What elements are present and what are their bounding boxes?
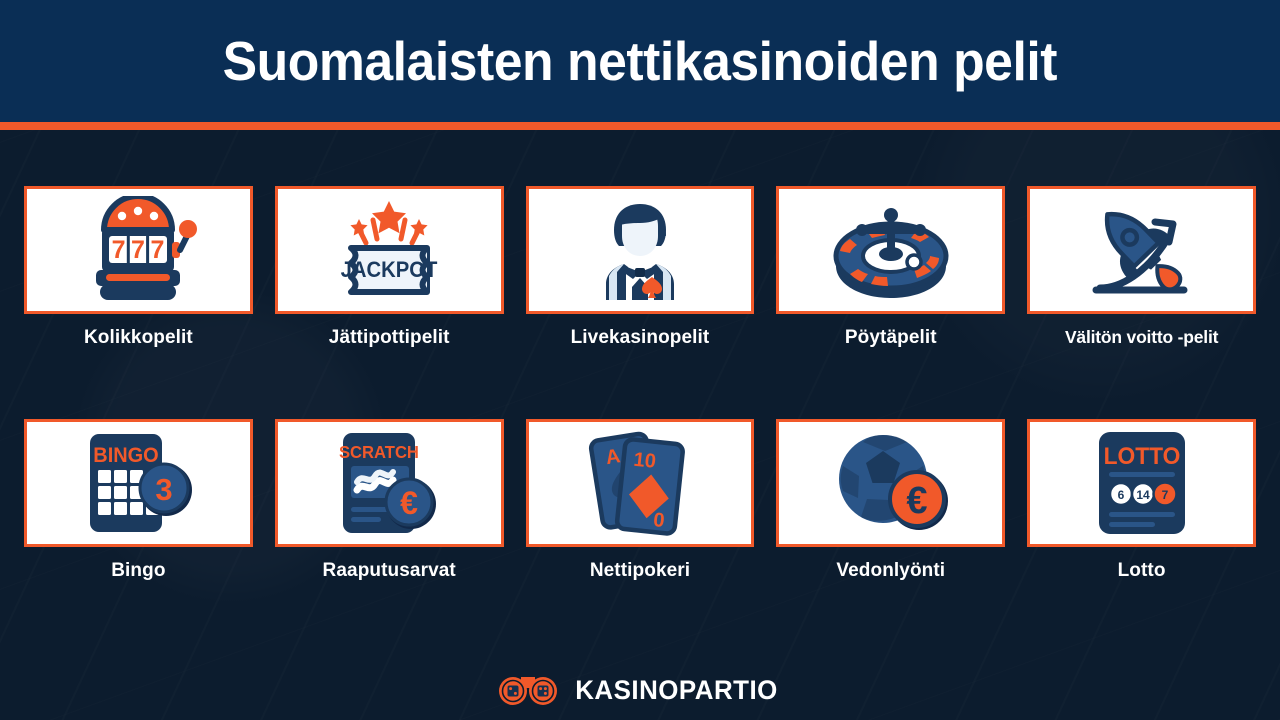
- grid-item-label: Jättipottipelit: [329, 327, 450, 349]
- footer-brand: KASINOPARTIO: [0, 660, 1280, 720]
- football-euro-icon: €: [831, 429, 951, 537]
- icon-card[interactable]: [1027, 186, 1256, 314]
- grid-item-label: Kolikkopelit: [84, 327, 193, 349]
- grid-item-lotto[interactable]: LOTTO 6 14 7 Lotto: [1027, 419, 1256, 640]
- roulette-wheel-icon: [826, 196, 956, 304]
- euro-symbol: €: [906, 480, 927, 522]
- grid-item-livekasinopelit[interactable]: Livekasinopelit: [526, 186, 755, 407]
- grid-item-poytapelit[interactable]: Pöytäpelit: [776, 186, 1005, 407]
- card-rank-10: 10: [632, 449, 656, 473]
- icon-card[interactable]: A 10 0: [526, 419, 755, 547]
- header-accent-rule: [0, 122, 1280, 130]
- card-rank-inverted: 0: [652, 509, 665, 532]
- euro-symbol: €: [400, 485, 418, 521]
- grid-item-label: Nettipokeri: [590, 560, 690, 582]
- bingo-label: BINGO: [94, 444, 159, 468]
- brand-wordmark: KASINOPARTIO: [576, 675, 779, 706]
- lotto-ticket-icon: LOTTO 6 14 7: [1087, 428, 1197, 538]
- header-banner: Suomalaisten nettikasinoiden pelit: [0, 0, 1280, 122]
- icon-card[interactable]: €: [776, 419, 1005, 547]
- grid-item-vedonlyonti[interactable]: € Vedonlyönti: [776, 419, 1005, 640]
- grid-item-bingo[interactable]: BINGO 3 Bingo: [24, 419, 253, 640]
- grid-item-raaputusarvat[interactable]: SCRATCH € Raaputusarvat: [275, 419, 504, 640]
- lotto-ball-2: 14: [1136, 488, 1150, 502]
- page-title: Suomalaisten nettikasinoiden pelit: [223, 29, 1057, 93]
- svg-text:7: 7: [112, 236, 126, 264]
- grid-item-label: Bingo: [111, 560, 165, 582]
- lotto-ball-1: 6: [1117, 488, 1124, 502]
- lotto-label: LOTTO: [1103, 442, 1180, 469]
- infographic-page: Suomalaisten nettikasinoiden pelit 7 7: [0, 0, 1280, 720]
- slot-machine-icon: 7 7 7: [76, 196, 200, 304]
- grid-item-jattipottipelit[interactable]: JACKPOT Jättipottipelit: [275, 186, 504, 407]
- grid-item-nettipokeri[interactable]: A 10 0 Nettipokeri: [526, 419, 755, 640]
- grid-item-label: Lotto: [1118, 560, 1166, 582]
- grid-item-label: Livekasinopelit: [571, 327, 710, 349]
- icon-card[interactable]: LOTTO 6 14 7: [1027, 419, 1256, 547]
- game-category-grid: 7 7 7 Kolikkopelit: [0, 130, 1280, 650]
- grid-item-label: Vedonlyönti: [836, 560, 945, 582]
- icon-card[interactable]: JACKPOT: [275, 186, 504, 314]
- scratch-label: SCRATCH: [339, 443, 419, 462]
- scratch-card-icon: SCRATCH €: [327, 428, 451, 538]
- bingo-ball-number: 3: [156, 472, 173, 507]
- grid-item-label: Raaputusarvat: [323, 560, 456, 582]
- lotto-ball-3: 7: [1161, 488, 1168, 502]
- binoculars-dice-icon: [497, 673, 559, 707]
- grid-item-label: Välitön voitto -pelit: [1065, 327, 1218, 348]
- grid-item-label: Pöytäpelit: [845, 327, 937, 349]
- rocket-growth-icon: [1076, 196, 1208, 304]
- grid-item-kolikkopelit[interactable]: 7 7 7 Kolikkopelit: [24, 186, 253, 407]
- jackpot-banner-icon: JACKPOT: [321, 196, 457, 304]
- svg-text:7: 7: [151, 236, 165, 264]
- grid-item-valiton-voitto-pelit[interactable]: Välitön voitto -pelit: [1027, 186, 1256, 407]
- jackpot-label: JACKPOT: [341, 258, 438, 282]
- icon-card[interactable]: [776, 186, 1005, 314]
- icon-card[interactable]: 7 7 7: [24, 186, 253, 314]
- icon-card[interactable]: SCRATCH €: [275, 419, 504, 547]
- icon-card[interactable]: BINGO 3: [24, 419, 253, 547]
- playing-cards-icon: A 10 0: [579, 428, 701, 538]
- bingo-card-icon: BINGO 3: [76, 428, 200, 538]
- live-dealer-icon: [584, 196, 696, 304]
- svg-text:7: 7: [131, 236, 145, 264]
- icon-card[interactable]: [526, 186, 755, 314]
